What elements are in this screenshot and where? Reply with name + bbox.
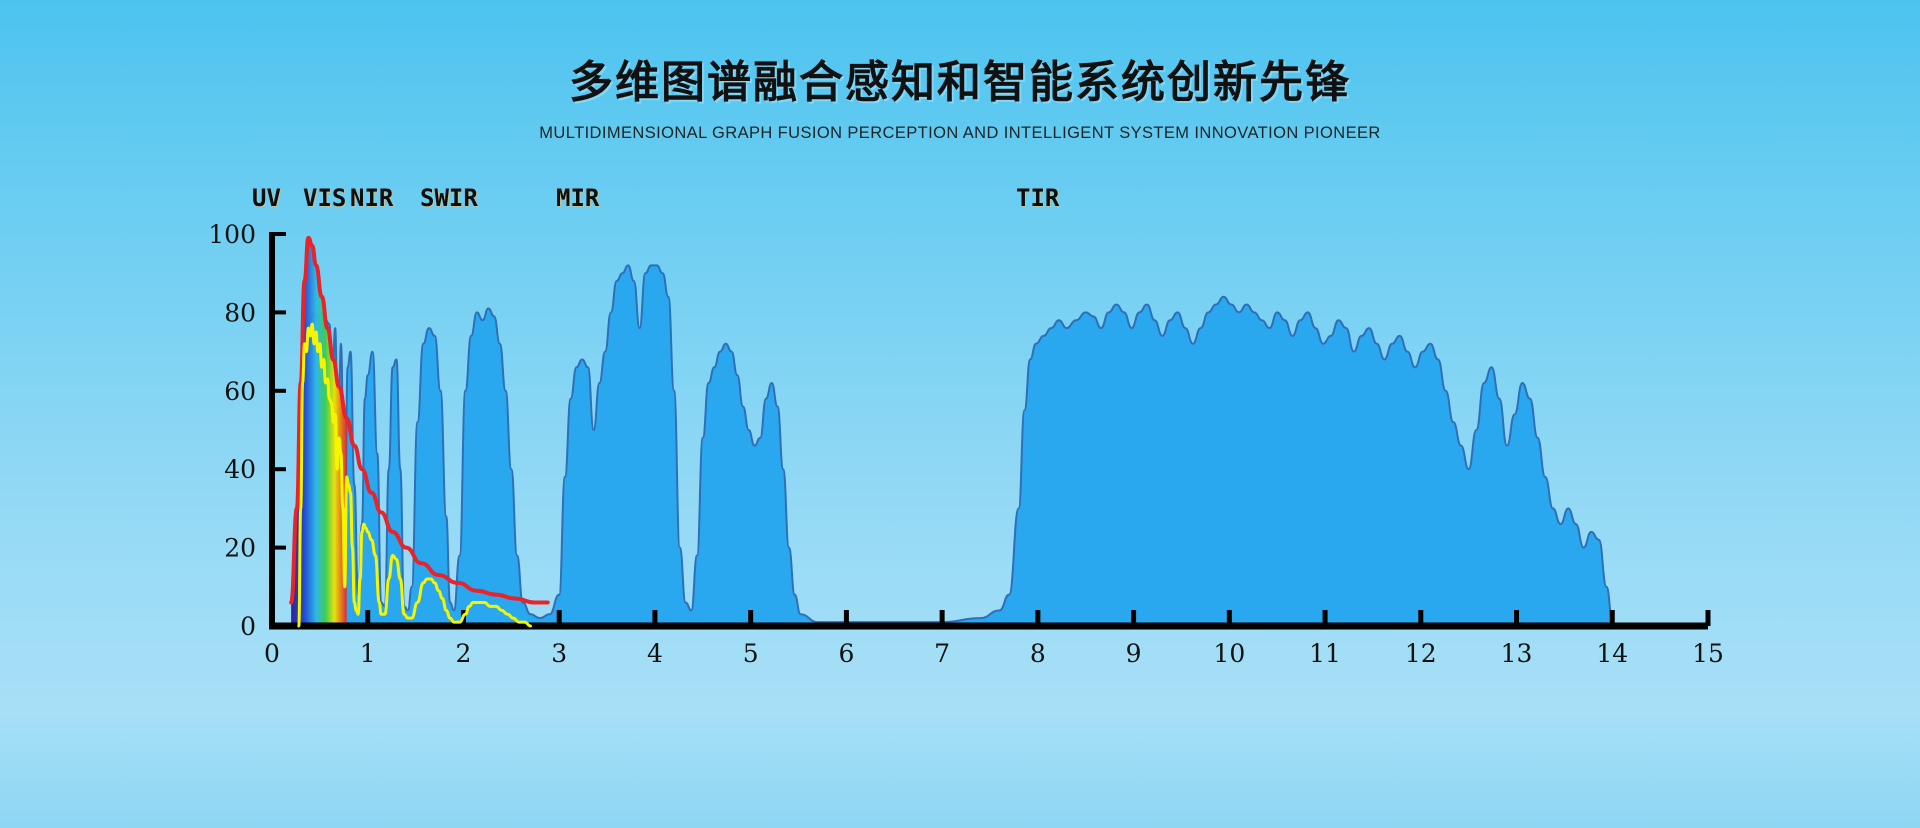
page-title: 多维图谱融合感知和智能系统创新先锋: [0, 57, 1920, 110]
x-tick-label: 10: [1213, 639, 1245, 668]
x-tick-label: 12: [1405, 639, 1437, 668]
x-tick-label: 5: [743, 639, 759, 668]
x-tick-label: 3: [551, 639, 567, 668]
y-tick-label: 40: [224, 455, 256, 484]
x-tick-label: 15: [1692, 639, 1724, 668]
y-tick-label: 60: [224, 377, 256, 406]
x-tick-label: 1: [360, 639, 376, 668]
page-header: 多维图谱融合感知和智能系统创新先锋 MULTIDIMENSIONAL GRAPH…: [0, 0, 1920, 143]
spectrum-chart: UVVISNIRSWIRMIRTIR 020406080100012345678…: [0, 160, 1920, 828]
y-tick-label: 20: [224, 534, 256, 563]
x-tick-label: 4: [647, 639, 663, 668]
y-tick-label: 100: [208, 220, 256, 249]
x-tick-label: 8: [1030, 639, 1046, 668]
x-tick-label: 9: [1126, 639, 1142, 668]
x-tick-label: 11: [1309, 639, 1341, 668]
page-subtitle: MULTIDIMENSIONAL GRAPH FUSION PERCEPTION…: [0, 124, 1920, 143]
transmission-area: [291, 238, 1614, 626]
y-tick-label: 80: [224, 298, 256, 327]
x-tick-label: 6: [838, 639, 854, 668]
y-tick-label: 0: [240, 612, 256, 641]
x-tick-label: 0: [264, 639, 280, 668]
x-tick-label: 13: [1501, 639, 1533, 668]
spectrum-plot: 0204060801000123456789101112131415: [0, 160, 1920, 828]
series-atmospheric-transmission: [299, 265, 1614, 626]
x-tick-label: 14: [1596, 639, 1628, 668]
x-tick-label: 7: [934, 639, 950, 668]
x-tick-label: 2: [456, 639, 472, 668]
